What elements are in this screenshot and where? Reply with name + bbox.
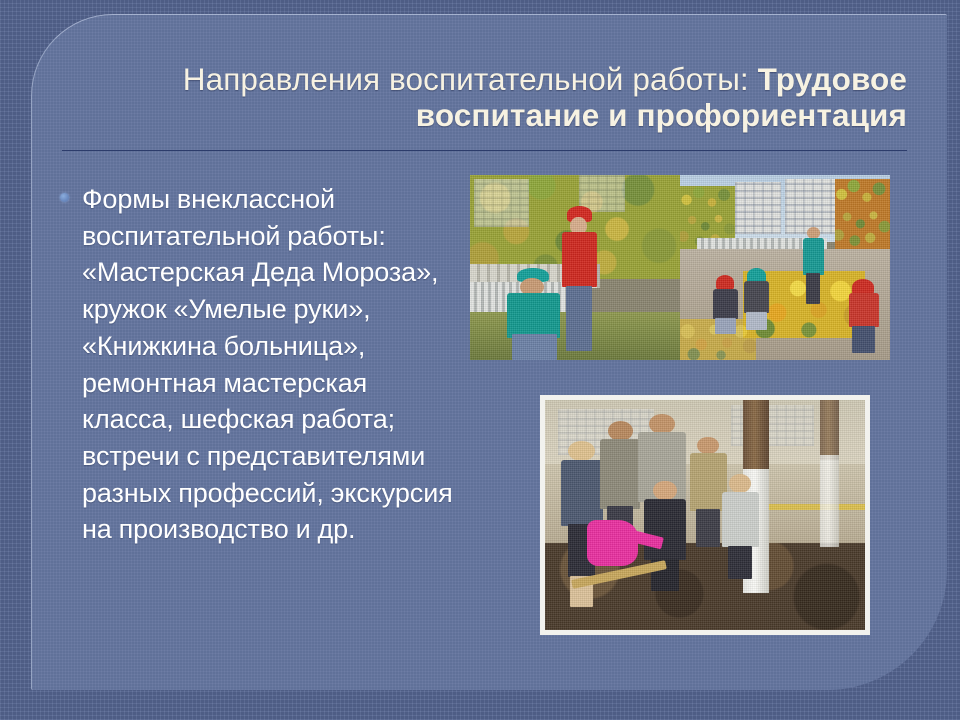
title-divider-rule: [62, 150, 907, 151]
diamond-bullet-icon: [60, 181, 82, 202]
slide-body: Формы внеклассной воспитательной работы:…: [60, 181, 460, 548]
photo-students-painting-fence-and-planting-flowers: [470, 175, 890, 360]
photo-panel-flowerbed-work: [680, 175, 890, 360]
slide-title: Направления воспитательной работы: Трудо…: [62, 62, 907, 134]
photo-panel-fence-painting: [470, 175, 680, 360]
photo-students-planting-trees: [540, 395, 870, 635]
presentation-slide: Направления воспитательной работы: Трудо…: [0, 0, 960, 720]
slide-title-regular-part: Направления воспитательной работы:: [183, 61, 758, 97]
bullet-item-text: Формы внеклассной воспитательной работы:…: [82, 181, 460, 548]
bullet-list-item: Формы внеклассной воспитательной работы:…: [60, 181, 460, 548]
pink-watering-can: [587, 520, 638, 566]
